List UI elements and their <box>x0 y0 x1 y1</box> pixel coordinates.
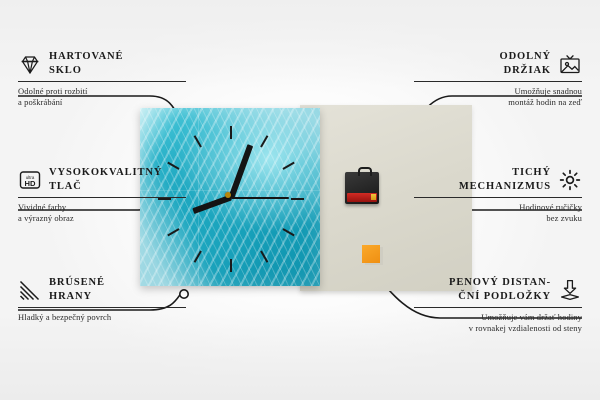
feature-header: TICHÝ MECHANIZMUS <box>414 166 582 193</box>
ultra-hd-icon: ultra HD <box>18 168 42 192</box>
picture-hanger-icon <box>558 52 582 76</box>
infographic-canvas: HARTOVANÉ SKLO Odolné proti rozbití a po… <box>0 0 600 400</box>
feature-description: Hodinové ručičky bez zvuku <box>414 202 582 224</box>
feature-divider <box>414 197 582 198</box>
feature-ground-edges: BRÚSENÉ HRANY Hladký a bezpečný povrch <box>18 276 186 323</box>
feature-divider <box>18 307 186 308</box>
clock-tick <box>291 198 304 200</box>
feature-header: PENOVÝ DISTAN- ČNÍ PODLOŽKY <box>414 276 582 303</box>
feature-description: Vividné farby a výrazný obraz <box>18 202 186 224</box>
feature-durable-hanger: ODOLNÝ DRŽIAK Umožňuje snadnou montáž ho… <box>414 50 582 108</box>
aa-battery <box>347 193 377 202</box>
feature-silent-mechanism: TICHÝ MECHANIZMUS Hodinové ručičky bez z… <box>414 166 582 224</box>
feature-foam-spacers: PENOVÝ DISTAN- ČNÍ PODLOŽKY Umožňuje vám… <box>414 276 582 334</box>
feature-description: Umožňuje snadnou montáž hodin na zeď <box>414 86 582 108</box>
feature-header: BRÚSENÉ HRANY <box>18 276 186 303</box>
feature-title: HARTOVANÉ SKLO <box>49 50 123 77</box>
press-down-icon <box>558 278 582 302</box>
brushed-edges-icon <box>18 278 42 302</box>
feature-header: ODOLNÝ DRŽIAK <box>414 50 582 77</box>
feature-title: TICHÝ MECHANIZMUS <box>459 166 551 193</box>
feature-title: ODOLNÝ DRŽIAK <box>500 50 552 77</box>
feature-divider <box>18 197 186 198</box>
feature-description: Odolné proti rozbití a poškrábání <box>18 86 186 108</box>
clock-center-pin <box>225 192 231 198</box>
feature-divider <box>18 81 186 82</box>
feature-title: PENOVÝ DISTAN- ČNÍ PODLOŽKY <box>449 276 551 303</box>
clock-mechanism <box>345 172 379 204</box>
foam-spacer-pad <box>362 245 380 263</box>
feature-title: VYSOKOKVALITNÝ TLAČ <box>49 166 162 193</box>
clock-tick <box>230 259 232 272</box>
feature-divider <box>414 307 582 308</box>
clock-tick <box>230 126 232 139</box>
svg-text:HD: HD <box>25 179 36 188</box>
feature-description: Hladký a bezpečný povrch <box>18 312 186 323</box>
feature-title: BRÚSENÉ HRANY <box>49 276 105 303</box>
hanger-tab-icon <box>358 167 372 176</box>
feature-high-quality-print: ultra HD VYSOKOKVALITNÝ TLAČ Vividné far… <box>18 166 186 224</box>
feature-tempered-glass: HARTOVANÉ SKLO Odolné proti rozbití a po… <box>18 50 186 108</box>
feature-header: ultra HD VYSOKOKVALITNÝ TLAČ <box>18 166 186 193</box>
feature-header: HARTOVANÉ SKLO <box>18 50 186 77</box>
feature-description: Umožňuje vám držať hodiny v rovnakej vzd… <box>414 312 582 334</box>
gear-icon <box>558 168 582 192</box>
feature-divider <box>414 81 582 82</box>
diamond-icon <box>18 52 42 76</box>
